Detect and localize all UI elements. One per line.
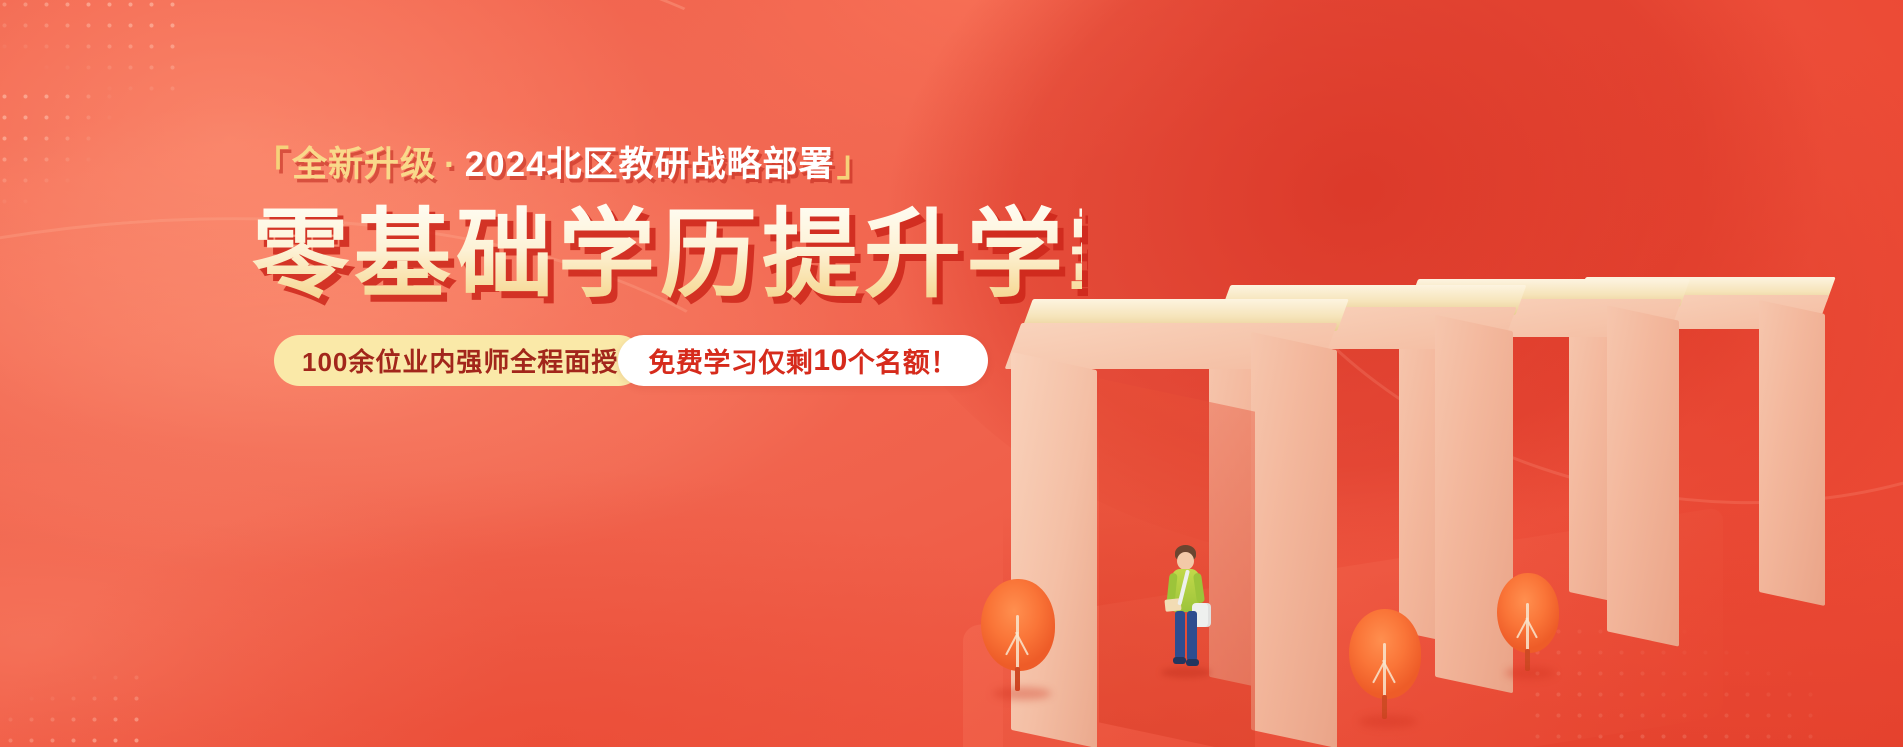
student-shoe-right bbox=[1186, 659, 1199, 666]
subtitle-highlight: 全新升级 bbox=[292, 145, 436, 184]
tree-right bbox=[1497, 573, 1561, 681]
pill-row: 100余位业内强师全程面授 免费学习仅剩10个名额！ bbox=[274, 335, 1082, 386]
teachers-pill: 100余位业内强师全程面授 bbox=[274, 335, 644, 386]
tree-right-shadow bbox=[1505, 667, 1555, 679]
quota-pill[interactable]: 免费学习仅剩10个名额！ bbox=[618, 335, 987, 386]
tree-mid bbox=[1349, 609, 1423, 729]
subtitle-bracket-open: 「 bbox=[254, 145, 290, 184]
dot-grid-top-left-lower bbox=[0, 86, 114, 206]
subtitle-bracket-close: 」 bbox=[837, 145, 873, 184]
tree-mid-branch-main bbox=[1383, 643, 1386, 699]
subtitle-separator: · bbox=[436, 145, 465, 184]
headline-block: 「全新升级·2024北区教研战略部署」 零基础学历提升学霸班 100余位业内强师… bbox=[252, 146, 1082, 386]
book-arch-1-leg-right bbox=[1251, 332, 1337, 747]
quota-pill-number: 10 bbox=[813, 344, 847, 378]
page-title: 零基础学历提升学霸班 bbox=[252, 201, 1082, 310]
dot-grid-bottom-left bbox=[0, 667, 150, 747]
student-figure bbox=[1159, 545, 1219, 675]
tree-left-shadow bbox=[993, 687, 1051, 700]
banner-subtitle: 「全新升级·2024北区教研战略部署」 bbox=[252, 146, 1082, 185]
book-arch-4-leg-right bbox=[1759, 300, 1825, 606]
student-leg-left bbox=[1175, 611, 1185, 659]
promo-banner: 「全新升级·2024北区教研战略部署」 零基础学历提升学霸班 100余位业内强师… bbox=[0, 0, 1903, 747]
tree-left-branch-main bbox=[1016, 615, 1019, 671]
book-arch-3-leg-right bbox=[1607, 305, 1679, 646]
tree-right-branch-main bbox=[1526, 603, 1529, 653]
subtitle-rest: 2024北区教研战略部署 bbox=[465, 145, 835, 184]
quota-pill-prefix: 免费学习仅剩 bbox=[648, 341, 813, 380]
student-shoe-left bbox=[1173, 657, 1186, 664]
quota-pill-suffix: 个名额！ bbox=[848, 341, 958, 380]
student-shadow bbox=[1161, 667, 1211, 678]
student-leg-right bbox=[1187, 611, 1197, 661]
teachers-pill-label: 100余位业内强师全程面授 bbox=[302, 342, 618, 379]
student-head bbox=[1177, 552, 1194, 570]
tree-left bbox=[981, 579, 1055, 699]
tree-mid-shadow bbox=[1359, 715, 1417, 728]
